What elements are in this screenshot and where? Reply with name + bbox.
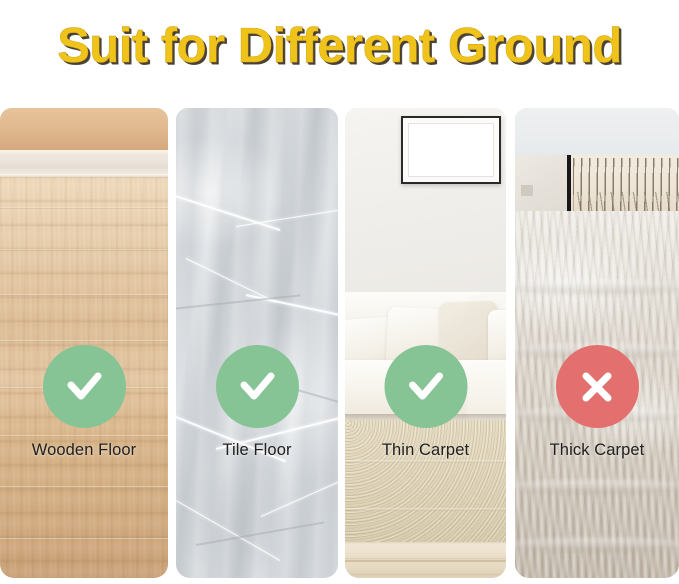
thin-carpet-image xyxy=(345,108,506,578)
wall-lower xyxy=(0,156,168,176)
panel-wooden-floor[interactable]: Wooden Floor xyxy=(0,108,168,578)
status-badge xyxy=(556,345,639,428)
vein-soft xyxy=(196,521,324,546)
status-badge xyxy=(216,345,299,428)
status-group-thick-carpet: Thick Carpet xyxy=(515,345,679,460)
status-badge xyxy=(384,345,467,428)
carpet-seam xyxy=(345,460,506,463)
status-group-thin-carpet: Thin Carpet xyxy=(345,345,506,460)
panel-thick-carpet[interactable]: Thick Carpet xyxy=(515,108,679,578)
upper-band xyxy=(515,108,679,155)
panel-label: Thick Carpet xyxy=(515,441,679,460)
wall-upper xyxy=(0,108,168,150)
shag-wave xyxy=(515,280,679,294)
vein xyxy=(186,258,276,303)
cross-icon xyxy=(575,365,619,409)
panel-thin-carpet[interactable]: Thin Carpet xyxy=(345,108,506,578)
status-group-tile-floor: Tile Floor xyxy=(176,345,338,460)
framed-picture xyxy=(515,155,571,216)
panel-tile-floor[interactable]: Tile Floor xyxy=(176,108,338,578)
framed-picture xyxy=(401,116,501,184)
panel-label: Wooden Floor xyxy=(0,441,168,460)
panel-label: Tile Floor xyxy=(176,441,338,460)
status-group-wooden-floor: Wooden Floor xyxy=(0,345,168,460)
frame-mat xyxy=(408,123,494,177)
frame-detail xyxy=(521,185,533,196)
carpet-seam xyxy=(345,508,506,511)
vein xyxy=(176,192,280,231)
shag-wave xyxy=(515,480,679,494)
ground-type-panel-group: Wooden Floor Tile Floor xyxy=(0,108,679,584)
wooden-floor-image xyxy=(0,108,168,578)
plank-seam xyxy=(0,249,168,251)
plank-seam xyxy=(0,486,168,488)
check-icon xyxy=(403,364,449,410)
vein xyxy=(261,477,338,517)
check-icon xyxy=(61,364,107,410)
shag-wave xyxy=(515,538,679,552)
thick-carpet-image xyxy=(515,108,679,578)
plank-seam xyxy=(0,538,168,540)
plank-seam xyxy=(0,207,168,209)
vein xyxy=(236,206,338,228)
plank-seam xyxy=(0,294,168,296)
check-icon xyxy=(234,364,280,410)
vein xyxy=(176,500,280,561)
wood-strip-seam xyxy=(345,560,506,562)
status-badge xyxy=(43,345,126,428)
header: Suit for Different Ground xyxy=(0,0,679,92)
plank-seam xyxy=(0,340,168,342)
page-title: Suit for Different Ground xyxy=(57,18,622,74)
marble-veins xyxy=(176,108,338,578)
panel-label: Thin Carpet xyxy=(345,441,506,460)
